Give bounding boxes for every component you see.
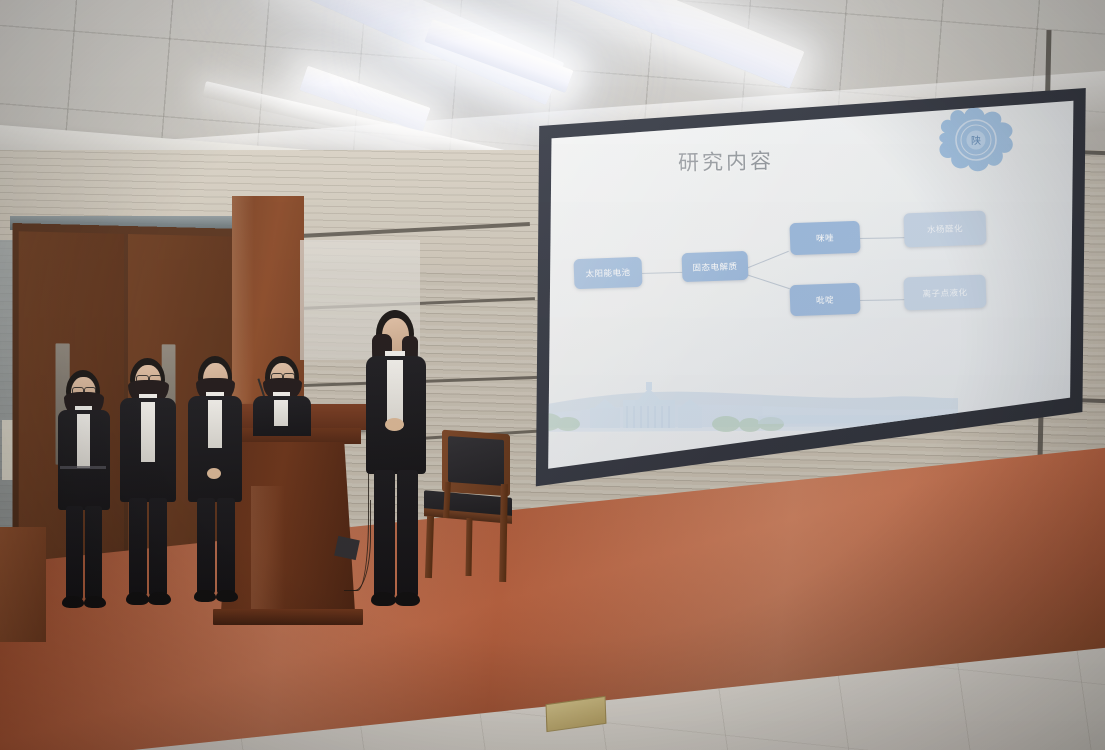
flow-node-ionic-liquid: 离子点液化 <box>903 275 986 311</box>
shirt-front <box>141 402 155 462</box>
flow-node-solid-electrolyte: 固态电解质 <box>682 251 749 282</box>
trouser-left <box>197 498 215 594</box>
svg-text:陕: 陕 <box>971 134 981 147</box>
chair-leg-rear-right <box>499 484 508 582</box>
screen-surface: 陕 研究内容 太阳能电池 固态电解质 咪唑 吡啶 水杨醛化 离子点液化 <box>528 88 1088 488</box>
trouser-right <box>149 498 167 596</box>
presentation-slide: 陕 研究内容 太阳能电池 固态电解质 咪唑 吡啶 水杨醛化 离子点液化 <box>528 88 1088 488</box>
connector-n2-n4 <box>746 274 790 289</box>
trouser-left <box>66 506 83 600</box>
stage-left-wood-block <box>0 527 46 642</box>
trouser-right <box>397 470 418 598</box>
trouser-right <box>217 498 235 594</box>
presenter <box>358 310 434 620</box>
projection-screen: 陕 研究内容 太阳能电池 固态电解质 咪唑 吡啶 水杨醛化 离子点液化 <box>528 88 1088 488</box>
clasped-hands <box>385 418 404 431</box>
shoe-left <box>194 590 216 602</box>
chair-leg-front-right <box>465 518 472 576</box>
shoe-right <box>216 590 238 602</box>
wooden-side-chair[interactable] <box>424 432 516 587</box>
clasped-hands <box>207 468 221 479</box>
lecture-hall-photo: 陕 研究内容 太阳能电池 固态电解质 咪唑 吡啶 水杨醛化 离子点液化 <box>0 0 1105 750</box>
trouser-left <box>374 470 395 598</box>
team-member-3 <box>185 356 247 612</box>
shoe-left <box>126 592 149 605</box>
shoe-left <box>371 592 396 606</box>
trouser-right <box>85 506 102 600</box>
flow-node-solar-cell: 太阳能电池 <box>573 257 642 289</box>
trouser-left <box>129 498 147 596</box>
shirt-front <box>274 400 288 426</box>
floor-connector-box <box>334 536 360 560</box>
shirt-front <box>77 414 90 468</box>
connector-n2-n3 <box>746 251 789 269</box>
connector-n1-n2 <box>640 272 683 274</box>
jacket-hem-detail <box>60 466 106 469</box>
flow-node-imidazole: 咪唑 <box>789 221 860 255</box>
flow-node-salicylaldehyde: 水杨醛化 <box>903 211 986 248</box>
shirt-front <box>208 400 222 448</box>
shoe-right <box>395 592 420 606</box>
team-member-1 <box>52 370 116 615</box>
team-member-4 <box>252 356 314 426</box>
flow-node-pyridine: 吡啶 <box>789 283 860 316</box>
chair-back-cushion <box>448 436 504 486</box>
connector-n3-n5 <box>858 237 906 239</box>
slide-title: 研究内容 <box>678 145 775 177</box>
shoe-left <box>62 596 84 608</box>
connector-n4-n6 <box>858 299 906 301</box>
shoe-right <box>84 596 106 608</box>
team-member-2 <box>115 358 181 616</box>
university-seal-icon: 陕 <box>932 101 1020 181</box>
shoe-right <box>148 592 171 605</box>
